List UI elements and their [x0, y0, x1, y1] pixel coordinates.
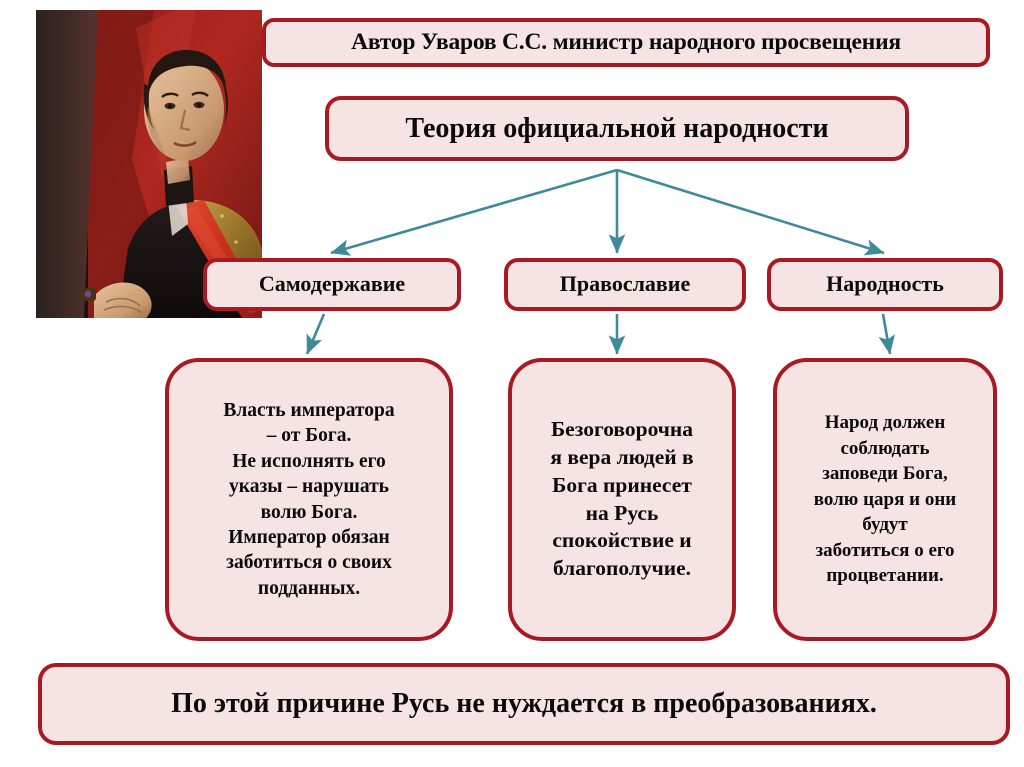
detail-text-samoderzhavie: Власть императора – от Бога. Не исполнят…: [179, 398, 439, 601]
detail-text-narodnost: Народ должен соблюдать заповеди Бога, во…: [787, 410, 983, 588]
conclusion-box: По этой причине Русь не нуждается в прео…: [38, 663, 1010, 745]
pillar-box-narodnost: Народность: [767, 258, 1003, 311]
arrow-title-to-narodnost: [617, 170, 884, 253]
author-header-box: Автор Уваров С.С. министр народного прос…: [262, 18, 990, 67]
detail-text-pravoslavie: Безоговорочна я вера людей в Бога принес…: [522, 416, 722, 584]
detail-box-narodnost: Народ должен соблюдать заповеди Бога, во…: [773, 358, 997, 641]
pillar-label-pravoslavie: Православие: [508, 272, 742, 297]
theory-title-box: Теория официальной народности: [325, 96, 909, 161]
pillar-label-samoderzhavie: Самодержавие: [207, 272, 457, 297]
arrow-title-to-samoderzhavie: [331, 170, 617, 253]
pillar-box-pravoslavie: Православие: [504, 258, 746, 311]
pillar-box-samoderzhavie: Самодержавие: [203, 258, 461, 311]
arrow-narodnost-to-detail: [883, 314, 890, 354]
pillar-label-narodnost: Народность: [771, 272, 999, 297]
author-header-text: Автор Уваров С.С. министр народного прос…: [266, 29, 986, 55]
detail-box-pravoslavie: Безоговорочна я вера людей в Бога принес…: [508, 358, 736, 641]
arrow-samoderzhavie-to-detail: [307, 314, 324, 354]
slide-canvas: Автор Уваров С.С. министр народного прос…: [0, 0, 1024, 767]
detail-box-samoderzhavie: Власть императора – от Бога. Не исполнят…: [165, 358, 453, 641]
theory-title-text: Теория официальной народности: [329, 113, 905, 144]
conclusion-text: По этой причине Русь не нуждается в прео…: [42, 688, 1006, 719]
